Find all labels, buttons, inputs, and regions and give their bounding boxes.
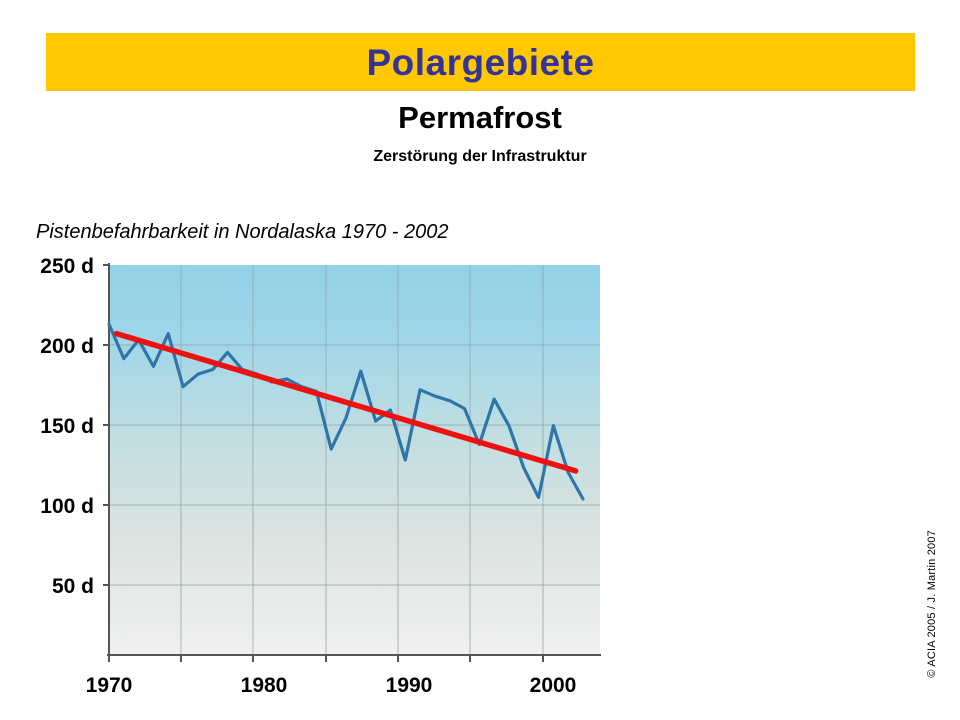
y-tick-label-50: 50 d (52, 575, 94, 598)
trendline (116, 334, 575, 471)
vertical-gridlines (181, 265, 543, 655)
y-tick-label-100: 100 d (40, 495, 94, 518)
x-tick-label-1980: 1980 (241, 674, 288, 697)
y-tick-label-150: 150 d (40, 415, 94, 438)
data-series-line (109, 324, 583, 499)
x-tick-label-1990: 1990 (386, 674, 433, 697)
chart-title: Pistenbefahrbarkeit in Nordalaska 1970 -… (36, 221, 448, 244)
slide-title-banner: Polargebiete (46, 33, 915, 91)
y-axis-ticks (103, 265, 109, 585)
slide-sub-subtitle: Zerstörung der Infrastruktur (0, 148, 960, 166)
y-tick-label-250: 250 d (40, 255, 94, 278)
copyright-text: © ACIA 2005 / J. Martin 2007 (926, 530, 938, 678)
plot-background (109, 265, 600, 655)
x-tick-label-2000: 2000 (530, 674, 577, 697)
y-tick-label-200: 200 d (40, 335, 94, 358)
horizontal-gridlines (109, 345, 600, 585)
x-axis-ticks (109, 655, 543, 662)
slide-subtitle: Permafrost (0, 100, 960, 136)
x-tick-label-1970: 1970 (86, 674, 133, 697)
slide-title: Polargebiete (366, 44, 594, 81)
